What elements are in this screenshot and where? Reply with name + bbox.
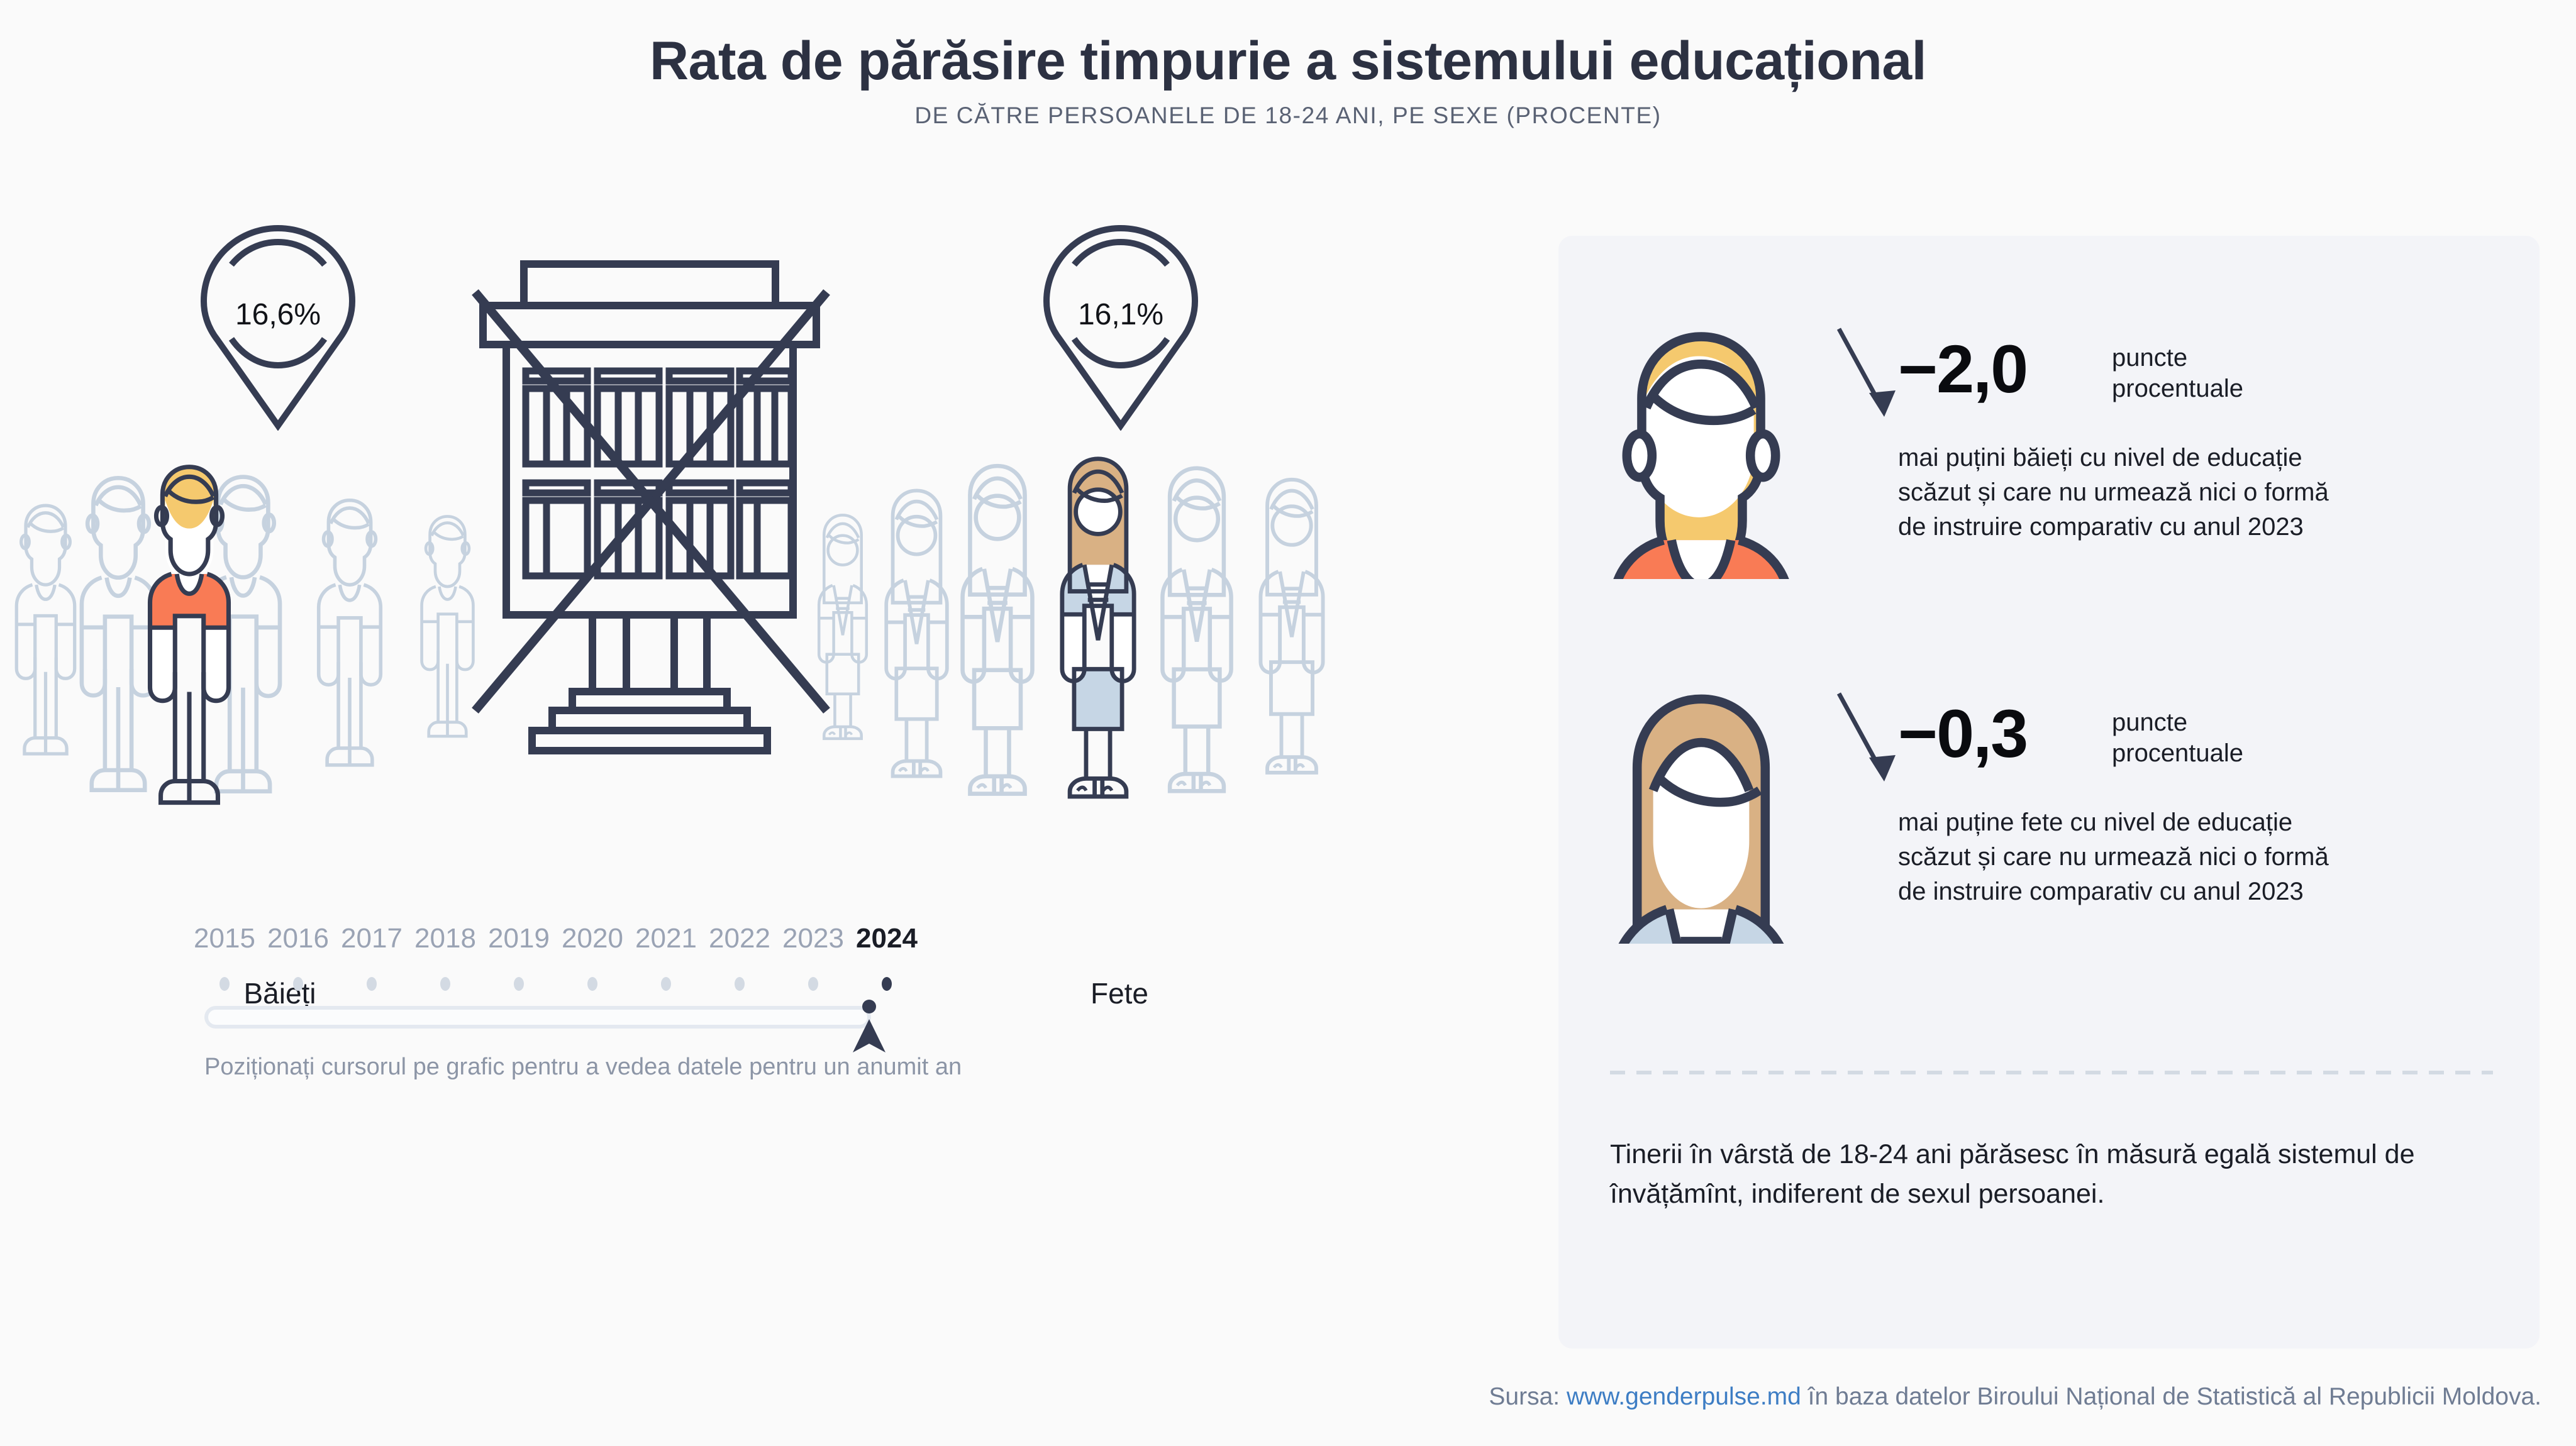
year-label-2023[interactable]: 2023 (782, 923, 844, 954)
page-subtitle: DE CĂTRE PERSOANELE DE 18-24 ANI, PE SEX… (0, 102, 2576, 129)
year-tick-2024[interactable] (882, 977, 892, 991)
value-marker-boys: 16,6% (196, 223, 360, 431)
stat-value-girls: −0,3 (1898, 700, 2027, 768)
year-ticks (204, 977, 1204, 991)
year-timeline[interactable]: 2015201620172018201920202021202220232024… (204, 923, 1204, 1068)
year-tick-2023[interactable] (808, 977, 818, 991)
panel-conclusion: Tinerii în vârstă de 18-24 ani părăsesc … (1610, 1135, 2490, 1214)
stat-unit-line-2: procentuale (2112, 373, 2243, 404)
year-label-2020[interactable]: 2020 (562, 923, 623, 954)
source-prefix: Sursa: (1489, 1383, 1567, 1410)
faded-girl-figure (1260, 480, 1323, 773)
year-tick-2016[interactable] (293, 977, 303, 991)
stat-value-boys: −2,0 (1898, 335, 2027, 403)
year-label-2015[interactable]: 2015 (194, 923, 255, 954)
year-label-2016[interactable]: 2016 (267, 923, 329, 954)
year-tick-2019[interactable] (514, 977, 524, 991)
value-marker-girls: 16,1% (1039, 223, 1202, 431)
stat-description-girls: mai puține fete cu nivel de educație scă… (1898, 805, 2338, 910)
source-link[interactable]: www.genderpulse.md (1567, 1383, 1801, 1410)
stat-unit-line-2: procentuale (2112, 738, 2243, 769)
stat-unit-girls: puncte procentuale (2112, 707, 2243, 769)
highlighted-boy-figure (150, 467, 229, 803)
faded-girl-figure (886, 490, 947, 776)
faded-girl-figure (1162, 468, 1231, 792)
year-tick-2022[interactable] (735, 977, 745, 991)
source-footer: Sursa: www.genderpulse.md în baza datelo… (0, 1383, 2576, 1411)
stat-unit-line-1: puncte (2112, 707, 2243, 738)
mouse-cursor-icon (850, 998, 889, 1054)
header: Rata de părăsire timpurie a sistemului e… (0, 33, 2576, 129)
panel-divider (1610, 1071, 2493, 1074)
source-suffix: în baza datelor Biroului Național de Sta… (1801, 1383, 2541, 1410)
faded-girl-figure (963, 466, 1033, 793)
year-label-2021[interactable]: 2021 (635, 923, 697, 954)
year-tick-2015[interactable] (219, 977, 230, 991)
illustration-region: 16,6% 16,1% Băieți Fete (0, 189, 1535, 912)
year-label-2022[interactable]: 2022 (709, 923, 770, 954)
stat-unit-line-1: puncte (2112, 343, 2243, 373)
arrow-down-icon (1830, 687, 1906, 794)
year-tick-2020[interactable] (587, 977, 597, 991)
year-labels: 2015201620172018201920202021202220232024 (204, 923, 1204, 961)
year-label-2017[interactable]: 2017 (341, 923, 402, 954)
year-label-2024[interactable]: 2024 (856, 923, 918, 954)
year-tick-2017[interactable] (367, 977, 377, 991)
timeline-track-inner (208, 1010, 867, 1025)
year-label-2019[interactable]: 2019 (488, 923, 550, 954)
summary-panel: −2,0 puncte procentuale mai puțini băieț… (1558, 236, 2540, 1349)
stat-unit-boys: puncte procentuale (2112, 343, 2243, 404)
faded-boy-figure (82, 478, 155, 790)
page-title: Rata de părăsire timpurie a sistemului e… (0, 33, 2576, 90)
value-marker-boys-text: 16,6% (196, 297, 360, 332)
arrow-down-icon (1830, 323, 1906, 429)
boy-avatar-icon (1597, 328, 1805, 579)
highlighted-girl-figure (1062, 459, 1134, 797)
faded-boy-figure (319, 500, 381, 765)
girl-avatar-icon (1597, 692, 1805, 944)
value-marker-girls-text: 16,1% (1039, 297, 1202, 332)
faded-boy-figure (422, 516, 474, 736)
stat-description-boys: mai puțini băieți cu nivel de educație s… (1898, 441, 2338, 545)
infographic-canvas: Rata de părăsire timpurie a sistemului e… (0, 0, 2576, 1446)
faded-boy-figure (16, 505, 74, 754)
year-tick-2018[interactable] (440, 977, 450, 991)
timeline-track[interactable] (204, 1006, 871, 1029)
timeline-hint: Poziționați cursorul pe grafic pentru a … (204, 1054, 962, 1081)
year-tick-2021[interactable] (661, 977, 671, 991)
year-label-2018[interactable]: 2018 (414, 923, 476, 954)
